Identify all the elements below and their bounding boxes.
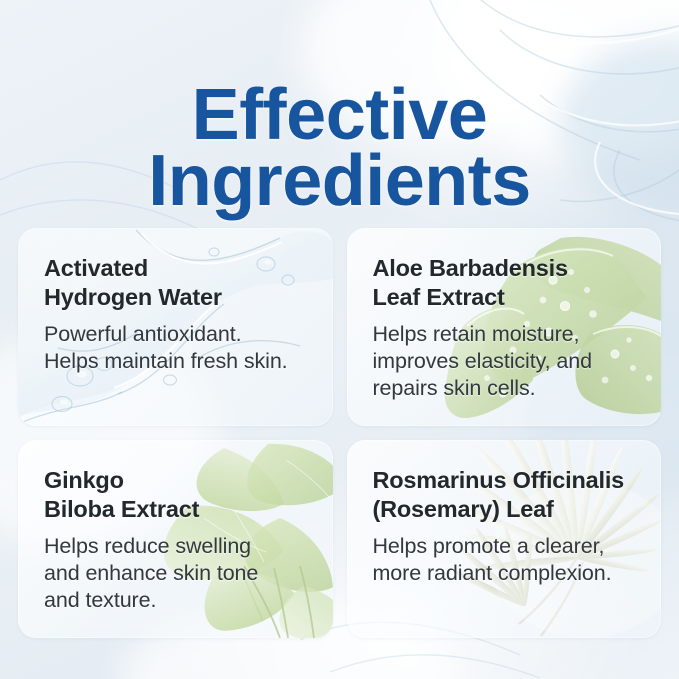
ingredient-heading-line-2: (Rosemary) Leaf <box>373 495 640 524</box>
ingredient-card-aloe-barbadensis-leaf-extract[interactable]: Aloe Barbadensis Leaf Extract Helps reta… <box>347 228 662 426</box>
ingredient-description-line-2: Helps maintain fresh skin. <box>44 348 311 375</box>
ingredient-description-line-3: and texture. <box>44 587 311 614</box>
ingredient-heading-line-2: Hydrogen Water <box>44 283 311 312</box>
ingredient-card-activated-hydrogen-water[interactable]: Activated Hydrogen Water Powerful antiox… <box>18 228 333 426</box>
ingredient-heading-line-2: Biloba Extract <box>44 495 311 524</box>
ingredient-heading-line-1: Rosmarinus Officinalis <box>373 466 640 495</box>
ingredient-description-line-1: Helps retain moisture, <box>373 321 640 348</box>
ingredient-description-line-1: Helps reduce swelling <box>44 533 311 560</box>
ingredient-description-line-1: Powerful antioxidant. <box>44 321 311 348</box>
page-title-line-2: Ingredients <box>0 148 679 214</box>
ingredient-description-line-1: Helps promote a clearer, <box>373 533 640 560</box>
ingredient-heading-line-2: Leaf Extract <box>373 283 640 312</box>
ingredient-description: Helps reduce swelling and enhance skin t… <box>44 533 311 614</box>
ingredient-heading-line-1: Aloe Barbadensis <box>373 254 640 283</box>
ingredients-infographic: Effective Ingredients <box>0 0 679 679</box>
ingredient-heading: Ginkgo Biloba Extract <box>44 466 311 524</box>
ingredient-heading-line-1: Activated <box>44 254 311 283</box>
ingredient-heading: Rosmarinus Officinalis (Rosemary) Leaf <box>373 466 640 524</box>
ingredient-description-line-3: repairs skin cells. <box>373 375 640 402</box>
ingredient-description: Helps retain moisture, improves elastici… <box>373 321 640 402</box>
ingredient-description: Powerful antioxidant. Helps maintain fre… <box>44 321 311 375</box>
ingredient-card-rosmarinus-officinalis-rosemary-leaf[interactable]: Rosmarinus Officinalis (Rosemary) Leaf H… <box>347 440 662 638</box>
ingredient-heading: Activated Hydrogen Water <box>44 254 311 312</box>
ingredient-card-ginkgo-biloba-extract[interactable]: Ginkgo Biloba Extract Helps reduce swell… <box>18 440 333 638</box>
ingredient-heading-line-1: Ginkgo <box>44 466 311 495</box>
page-title-line-1: Effective <box>0 82 679 148</box>
ingredient-description: Helps promote a clearer, more radiant co… <box>373 533 640 587</box>
ingredient-description-line-2: and enhance skin tone <box>44 560 311 587</box>
page-title: Effective Ingredients <box>0 82 679 214</box>
ingredient-description-line-2: improves elasticity, and <box>373 348 640 375</box>
ingredient-heading: Aloe Barbadensis Leaf Extract <box>373 254 640 312</box>
ingredient-description-line-2: more radiant complexion. <box>373 560 640 587</box>
ingredient-card-grid: Activated Hydrogen Water Powerful antiox… <box>18 228 661 638</box>
